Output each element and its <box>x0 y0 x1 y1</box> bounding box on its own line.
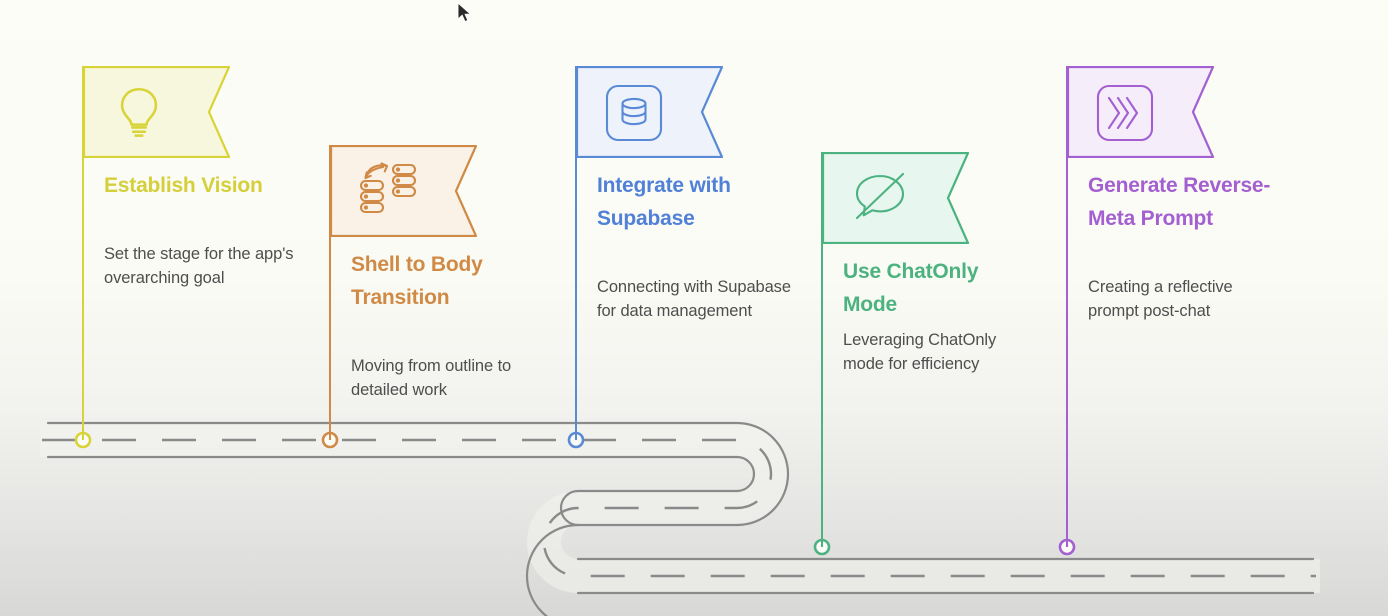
chat-bubble-slash-icon <box>849 168 911 231</box>
data-migration-icon <box>357 161 419 222</box>
chat-bubble-slash-icon <box>849 168 911 226</box>
milestone-description: Creating a reflective prompt post-chat <box>1088 275 1284 324</box>
data-migration-icon <box>357 161 419 217</box>
milestone-description: Leveraging ChatOnly mode for efficiency <box>843 328 1039 377</box>
milestone-title: Shell to Body Transition <box>351 249 541 315</box>
database-icon <box>603 82 665 149</box>
milestone-title: Establish Vision <box>104 170 294 203</box>
milestone-description: Moving from outline to detailed work <box>351 354 547 403</box>
milestone-description: Connecting with Supabase for data manage… <box>597 275 793 324</box>
fast-forward-chevrons-icon <box>1094 82 1156 144</box>
lightbulb-icon <box>110 82 168 145</box>
roadmap-diagram: Establish VisionSet the stage for the ap… <box>0 0 1388 616</box>
milestone-list: Establish VisionSet the stage for the ap… <box>0 0 1388 616</box>
milestone-title: Use ChatOnly Mode <box>843 256 1033 322</box>
fast-forward-chevrons-icon <box>1094 82 1156 149</box>
lightbulb-icon <box>110 82 168 140</box>
milestone-title: Generate Reverse-Meta Prompt <box>1088 170 1278 236</box>
milestone-title: Integrate with Supabase <box>597 170 787 236</box>
milestone-description: Set the stage for the app's overarching … <box>104 242 300 291</box>
database-icon <box>603 82 665 144</box>
